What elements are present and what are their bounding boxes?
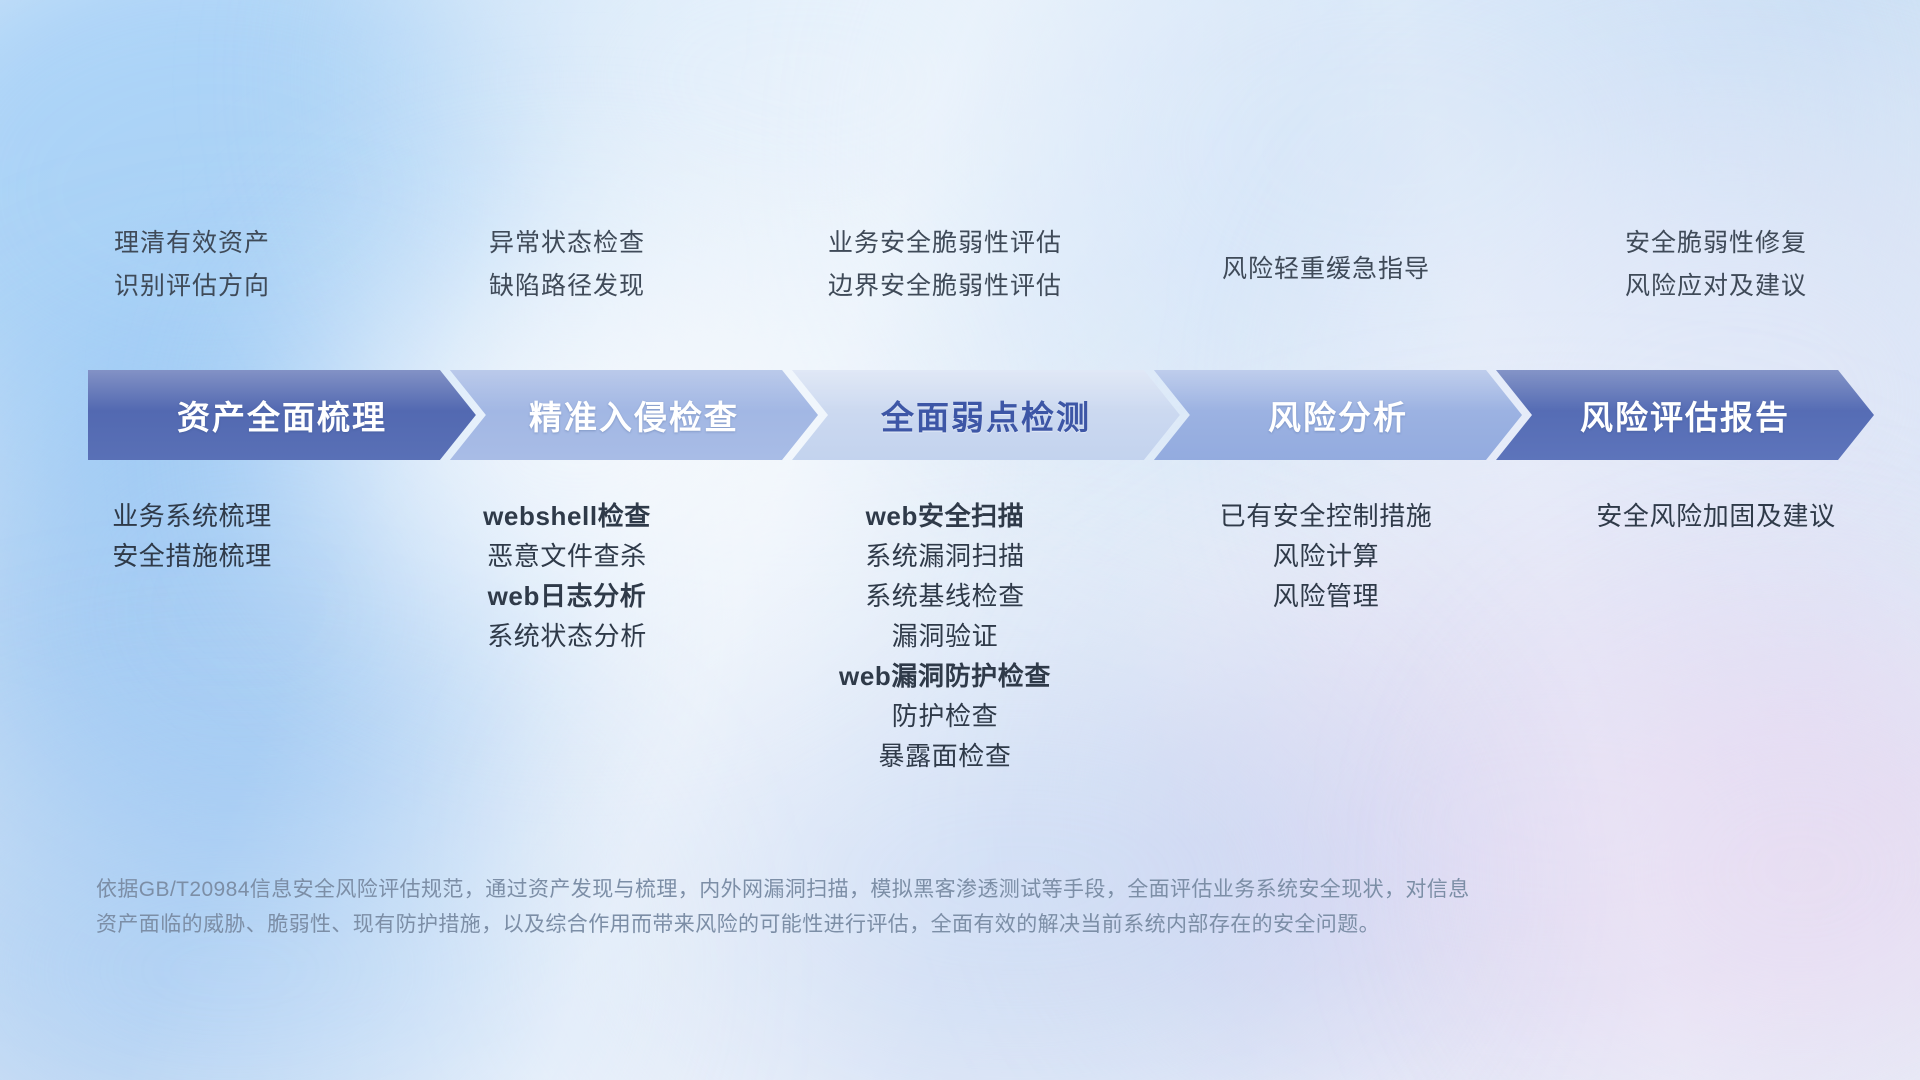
detail-item: 暴露面检查 [750,736,1140,776]
detail-item: 系统基线检查 [750,576,1140,616]
stage-top-notes-1: 理清有效资产识别评估方向 [0,222,384,308]
stage-title: 全面弱点检测 [881,391,1091,439]
top-annotations-row: 理清有效资产识别评估方向异常状态检查缺陷路径发现业务安全脆弱性评估边界安全脆弱性… [0,222,1920,308]
detail-item: webshell检查 [384,496,750,536]
footer-description: 依据GB/T20984信息安全风险评估规范，通过资产发现与梳理，内外网漏洞扫描，… [96,872,1616,943]
detail-item: web日志分析 [384,576,750,616]
process-stage-5[interactable]: 风险评估报告 [1496,370,1874,460]
detail-item: 安全措施梳理 [0,536,384,576]
footer-line-1: 依据GB/T20984信息安全风险评估规范，通过资产发现与梳理，内外网漏洞扫描，… [96,872,1616,907]
footer-line-2: 资产面临的威胁、脆弱性、现有防护措施，以及综合作用而带来风险的可能性进行评估，全… [96,907,1616,942]
detail-item: 已有安全控制措施 [1140,496,1512,536]
process-stage-3[interactable]: 全面弱点检测 [792,370,1180,460]
stage-details-4: 已有安全控制措施风险计算风险管理 [1140,496,1512,776]
top-note: 缺陷路径发现 [384,265,750,308]
process-stage-1[interactable]: 资产全面梳理 [88,370,476,460]
top-note: 风险应对及建议 [1512,265,1920,308]
top-note: 理清有效资产 [0,222,384,265]
stage-title: 资产全面梳理 [177,391,387,439]
process-chevron-band: 资产全面梳理精准入侵检查全面弱点检测风险分析风险评估报告 [88,370,1848,460]
detail-item: 防护检查 [750,696,1140,736]
detail-item: 业务系统梳理 [0,496,384,536]
top-note: 异常状态检查 [384,222,750,265]
stage-details-row: 业务系统梳理安全措施梳理webshell检查恶意文件查杀web日志分析系统状态分… [0,496,1920,776]
top-note: 风险轻重缓急指导 [1140,248,1512,291]
stage-title: 风险评估报告 [1580,391,1790,439]
stage-top-notes-2: 异常状态检查缺陷路径发现 [384,222,750,308]
stage-top-notes-4: 风险轻重缓急指导 [1140,222,1512,308]
detail-item: 安全风险加固及建议 [1512,496,1920,536]
stage-details-1: 业务系统梳理安全措施梳理 [0,496,384,776]
detail-item: 系统漏洞扫描 [750,536,1140,576]
detail-item: 风险管理 [1140,576,1512,616]
top-note: 识别评估方向 [0,265,384,308]
process-stage-2[interactable]: 精准入侵检查 [450,370,818,460]
stage-details-3: web安全扫描系统漏洞扫描系统基线检查漏洞验证web漏洞防护检查防护检查暴露面检… [750,496,1140,776]
detail-item: web漏洞防护检查 [750,656,1140,696]
detail-item: 系统状态分析 [384,616,750,656]
stage-details-5: 安全风险加固及建议 [1512,496,1920,776]
detail-item: 风险计算 [1140,536,1512,576]
top-note: 边界安全脆弱性评估 [750,265,1140,308]
stage-title: 精准入侵检查 [529,391,739,439]
stage-top-notes-5: 安全脆弱性修复风险应对及建议 [1512,222,1920,308]
detail-item: 恶意文件查杀 [384,536,750,576]
detail-item: 漏洞验证 [750,616,1140,656]
top-note: 业务安全脆弱性评估 [750,222,1140,265]
stage-title: 风险分析 [1268,391,1408,439]
detail-item: web安全扫描 [750,496,1140,536]
process-stage-4[interactable]: 风险分析 [1154,370,1522,460]
stage-details-2: webshell检查恶意文件查杀web日志分析系统状态分析 [384,496,750,776]
top-note: 安全脆弱性修复 [1512,222,1920,265]
stage-top-notes-3: 业务安全脆弱性评估边界安全脆弱性评估 [750,222,1140,308]
